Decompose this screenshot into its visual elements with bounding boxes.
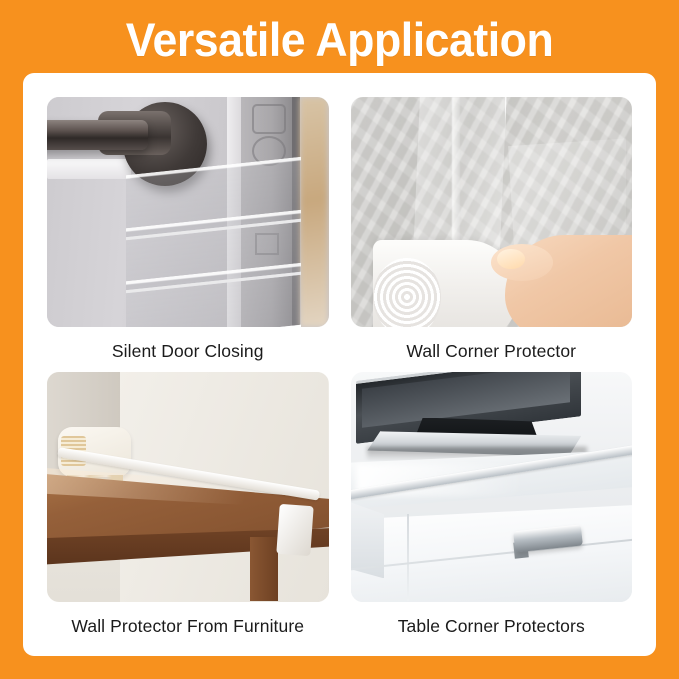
page-title: Versatile Application	[17, 8, 662, 70]
white-cabinet-with-monitor-and-edge-strip-photo	[351, 372, 633, 602]
jamb-detail-upper	[252, 104, 286, 134]
desk-leg	[250, 537, 278, 601]
card-caption: Wall Corner Protector	[406, 341, 576, 362]
card-table-corner-protectors: Table Corner Protectors	[351, 372, 633, 645]
infographic-frame: Versatile Application Silent D	[0, 0, 679, 679]
hand-applying-clear-tape-to-wall-corner-photo	[351, 97, 633, 327]
door-lever-handle-icon	[47, 120, 148, 150]
corner-protector-piece	[276, 504, 313, 556]
cabinet-drawer-seam-vertical	[407, 514, 409, 601]
tape-roll-spiral	[373, 258, 441, 327]
card-wall-protector-from-furniture: Wall Protector From Furniture	[47, 372, 329, 645]
room-background	[300, 97, 328, 327]
card-silent-door-closing: Silent Door Closing	[47, 97, 329, 370]
card-wall-corner-protector: Wall Corner Protector	[351, 97, 633, 370]
wooden-desk-against-wall-with-edge-strip-photo	[47, 372, 329, 602]
card-caption: Table Corner Protectors	[398, 616, 585, 637]
door-trim	[47, 159, 131, 179]
door-with-corner-guards-photo	[47, 97, 329, 327]
card-caption: Silent Door Closing	[112, 341, 264, 362]
card-caption: Wall Protector From Furniture	[71, 616, 304, 637]
cards-panel: Silent Door Closing Wall Corner Protecto…	[23, 73, 656, 656]
